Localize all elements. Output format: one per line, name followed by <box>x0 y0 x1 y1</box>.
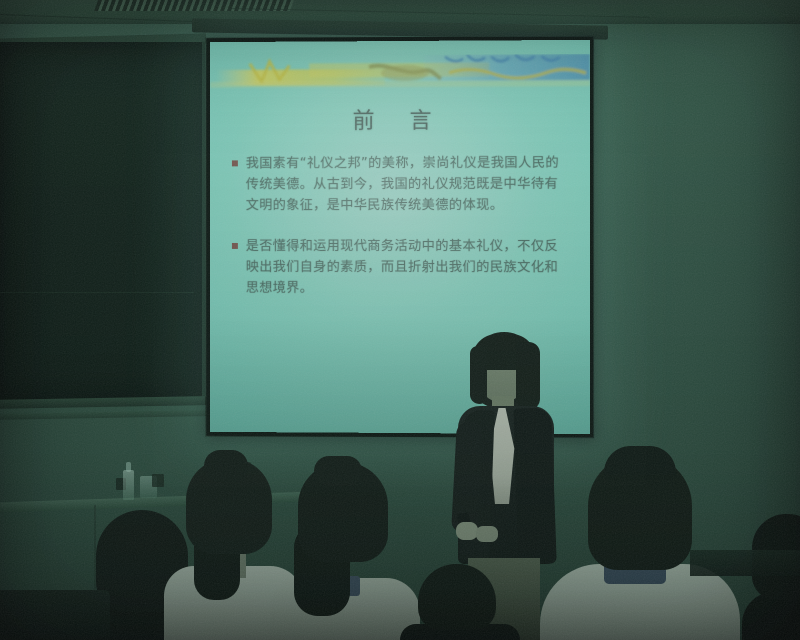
square-bullet-icon <box>232 243 238 249</box>
slide-banner-decoration <box>210 54 590 102</box>
slide-bullet-paragraph: 是否懂得和运用现代商务活动中的基本礼仪，不仅反映出我们自身的素质，而且折射出我们… <box>232 236 572 299</box>
slide-paragraph-text: 是否懂得和运用现代商务活动中的基本礼仪，不仅反映出我们自身的素质，而且折射出我们… <box>246 236 572 299</box>
audience-hair-bun <box>204 450 248 482</box>
slide-bullet-paragraph: 我国素有“礼仪之邦”的美称，崇尚礼仪是我国人民的传统美德。从古到今，我国的礼仪规… <box>232 153 572 217</box>
foreground-desk-right <box>690 550 800 576</box>
presenter-right-hand <box>476 526 498 542</box>
blackboard-seam <box>0 292 194 293</box>
audience-member <box>400 570 520 640</box>
slide-body: 我国素有“礼仪之邦”的美称，崇尚礼仪是我国人民的传统美德。从古到今，我国的礼仪规… <box>232 153 572 320</box>
audience-hair-bun <box>314 456 362 486</box>
presenter-hair-left <box>470 346 487 404</box>
presenter-left-hand <box>456 522 478 540</box>
square-bullet-icon <box>232 160 238 166</box>
audience-member <box>540 440 740 640</box>
classroom-photo-scene: 前 言 我国素有“礼仪之邦”的美称，崇尚礼仪是我国人民的传统美德。从古到今，我国… <box>0 0 800 640</box>
slide-title: 前 言 <box>210 102 590 135</box>
blackboard <box>0 42 205 402</box>
foreground-desk <box>0 590 110 640</box>
counter-bottle <box>123 470 134 500</box>
presenter-hair-right <box>516 342 540 410</box>
slide-paragraph-text: 我国素有“礼仪之邦”的美称，崇尚礼仪是我国人民的传统美德。从古到今，我国的礼仪规… <box>246 153 572 217</box>
audience-hair-top <box>604 446 676 480</box>
audience-head <box>418 564 496 630</box>
